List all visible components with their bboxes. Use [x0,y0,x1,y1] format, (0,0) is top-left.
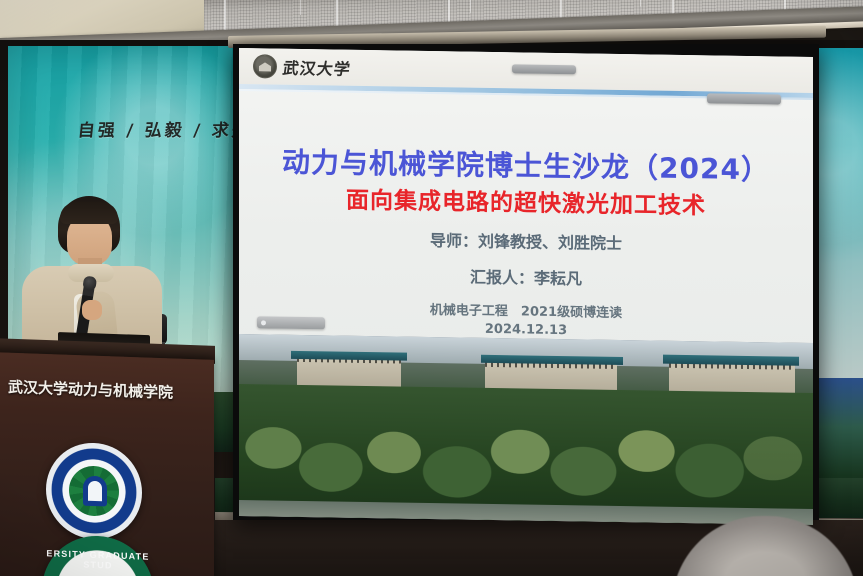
university-motto: 自强 / 弘毅 / 求是 [77,116,255,141]
presentation-slide: 武汉大学 动力与机械学院博士生沙龙（2024） 面向集成电路的超快激光加工技术 … [239,48,813,525]
ceiling-wire [640,0,641,7]
graduate-seal-text: ERSITY GRADUATE STUD [42,548,154,572]
slide-campus-photo [239,334,813,525]
speaker-hand [82,300,102,320]
whu-logo: 武汉大学 [253,54,351,80]
ceiling-wire [300,0,301,15]
speaker-fringe [60,202,118,224]
ppt-top-chip[interactable] [512,64,576,74]
slide-advisor-line: 导师：刘锋教授、刘胜院士 [239,224,813,257]
ppt-floating-toolbar[interactable] [257,316,325,329]
lecture-hall-photo: 自强 / 弘毅 / 求是 武汉大学 动力与机械学院博士生沙龙（2024） 面向集… [0,0,863,576]
slide-header-org: 武汉大学 [281,55,352,80]
ppt-presenter-chip[interactable] [707,93,781,104]
whu-seal-icon [253,54,277,78]
slide-presenter-line: 汇报人：李耘凡 [239,260,813,293]
record-dot-icon [261,320,266,325]
emblem-letter-p-icon [83,476,107,507]
ceiling-wire [470,0,471,13]
projector-screen: 武汉大学 动力与机械学院博士生沙龙（2024） 面向集成电路的超快激光加工技术 … [239,48,813,525]
